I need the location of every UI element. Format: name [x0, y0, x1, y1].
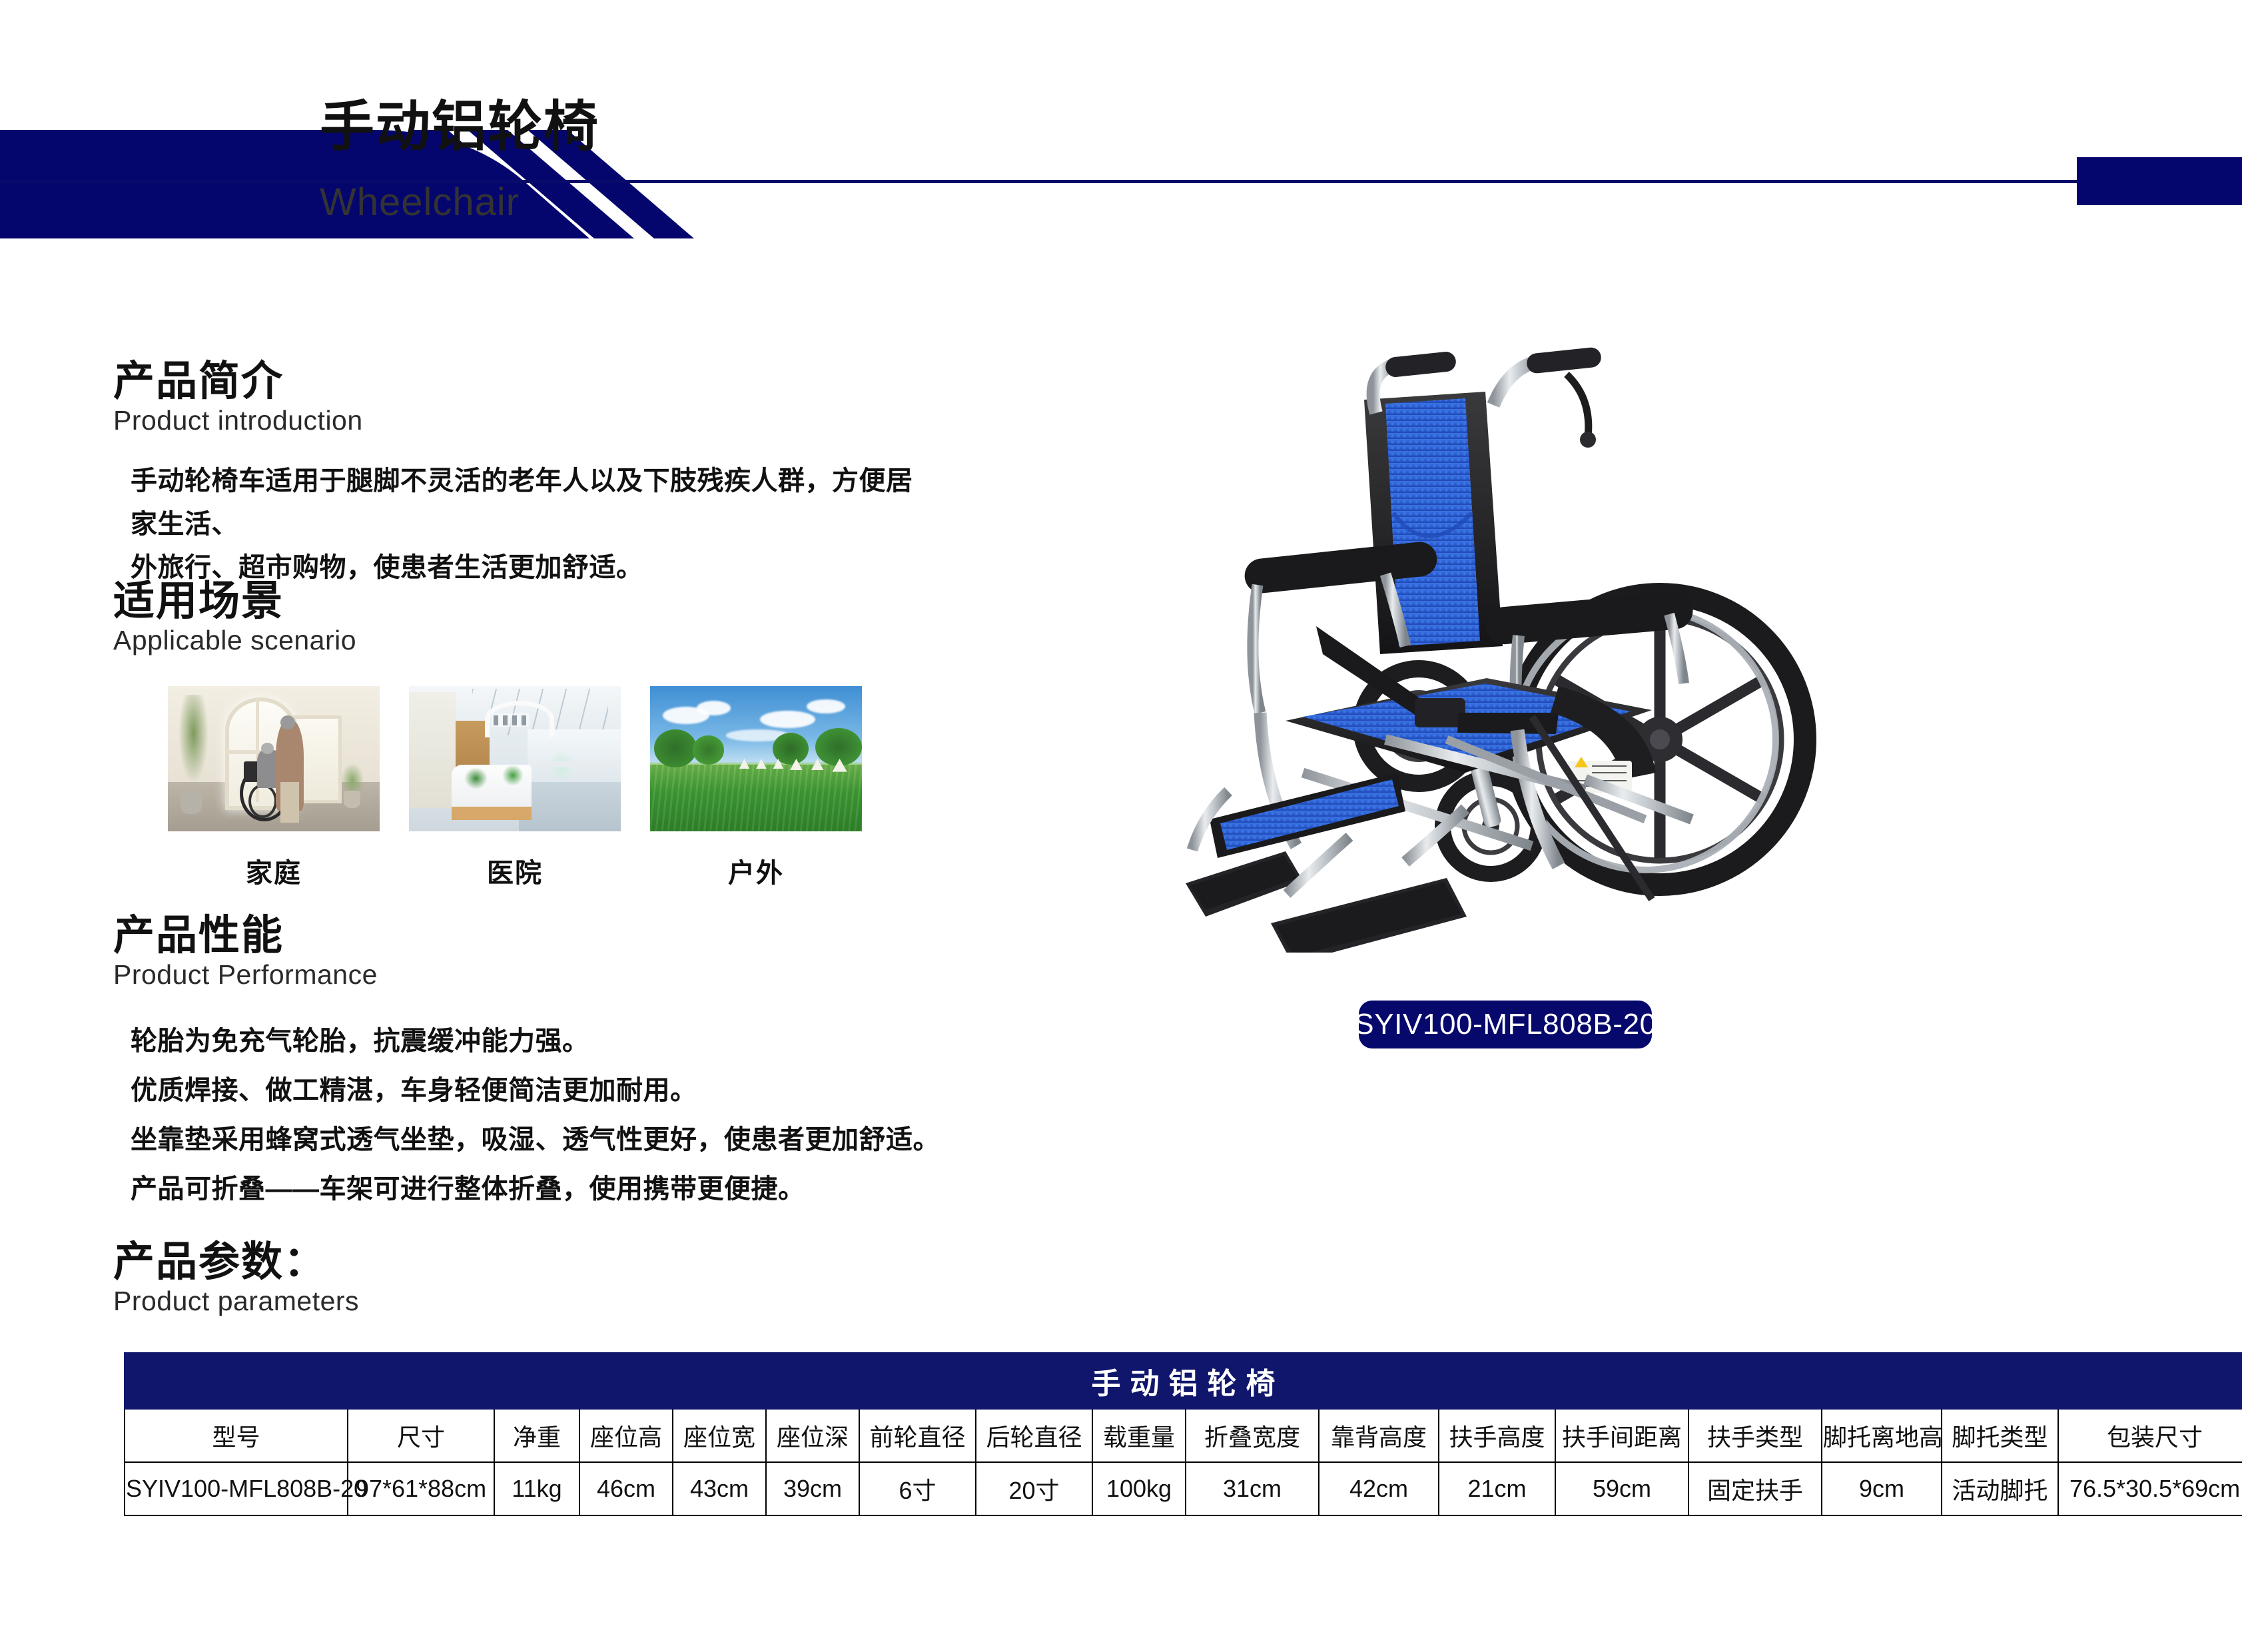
parameters-table: 手动铝轮椅 型号 尺寸 净重 座位高 座位宽 座位深 前轮直径 后轮直径 载重量…	[124, 1352, 2242, 1516]
table-cell-seat-depth: 39cm	[766, 1462, 859, 1515]
belt-buckle	[1415, 698, 1465, 727]
footplate-right	[1271, 878, 1467, 953]
brake-lever	[1567, 374, 1589, 437]
table-col-size: 尺寸	[348, 1409, 494, 1462]
table-cell-size: 97*61*88cm	[348, 1462, 494, 1515]
table-cell-footrest-ground-height: 9cm	[1822, 1462, 1942, 1515]
performance-title-en: Product Performance	[113, 957, 378, 993]
table-col-package-size: 包装尺寸	[2058, 1409, 2242, 1462]
table-col-seat-depth: 座位深	[766, 1409, 859, 1462]
table-col-load-capacity: 载重量	[1092, 1409, 1186, 1462]
scenario-caption-outdoor: 户外	[650, 851, 862, 890]
header-right-accent-block	[2077, 157, 2242, 205]
page-title-en: Wheelchair	[320, 179, 520, 227]
table-cell-load-capacity: 100kg	[1092, 1462, 1186, 1515]
parameters-title-en: Product parameters	[113, 1284, 359, 1319]
table-col-armrest-type: 扶手类型	[1688, 1409, 1822, 1462]
performance-line-1: 轮胎为免充气轮胎，抗震缓冲能力强。	[131, 1019, 589, 1058]
product-photo-wheelchair	[1186, 313, 1865, 953]
table-col-rear-wheel-dia: 后轮直径	[976, 1409, 1092, 1462]
model-badge: SYIV100-MFL808B-20	[1359, 1001, 1652, 1048]
table-col-seat-width: 座位宽	[673, 1409, 766, 1462]
scenario-image-home	[168, 686, 380, 831]
table-cell-footrest-type: 活动脚托	[1942, 1462, 2058, 1515]
push-handle-left	[1385, 351, 1457, 378]
section-heading-introduction: 产品简介 Product introduction	[113, 360, 363, 438]
push-handle-right	[1526, 346, 1603, 374]
table-cell-backrest-height: 42cm	[1319, 1462, 1439, 1515]
performance-title-cn: 产品性能	[113, 914, 378, 957]
table-cell-folded-width: 31cm	[1186, 1462, 1319, 1515]
product-spec-page: 手动铝轮椅 Wheelchair 产品简介 Product introducti…	[0, 0, 2242, 1652]
table-header-row: 型号 尺寸 净重 座位高 座位宽 座位深 前轮直径 后轮直径 载重量 折叠宽度 …	[125, 1409, 2242, 1462]
table-col-backrest-height: 靠背高度	[1319, 1409, 1439, 1462]
table-cell-netweight: 11kg	[494, 1462, 579, 1515]
table-col-folded-width: 折叠宽度	[1186, 1409, 1319, 1462]
table-cell-package-size: 76.5*30.5*69cm	[2058, 1462, 2242, 1515]
page-title-cn: 手动铝轮椅	[320, 100, 599, 155]
introduction-title-en: Product introduction	[113, 403, 363, 438]
table-cell-front-wheel-dia: 6寸	[859, 1462, 976, 1515]
introduction-line-1: 手动轮椅车适用于腿脚不灵活的老年人以及下肢残疾人群，方便居家生活、	[131, 460, 917, 546]
table-title: 手动铝轮椅	[125, 1353, 2242, 1409]
scenario-caption-home: 家庭	[168, 851, 380, 890]
performance-line-4: 产品可折叠——车架可进行整体折叠，使用携带更便捷。	[131, 1167, 805, 1206]
table-title-row: 手动铝轮椅	[125, 1353, 2242, 1409]
parameters-title-cn: 产品参数：	[113, 1240, 359, 1284]
table-cell-armrest-height: 21cm	[1439, 1462, 1555, 1515]
scenario-caption-hospital: 医院	[409, 851, 621, 890]
introduction-title-cn: 产品简介	[113, 360, 363, 403]
table-col-seat-height: 座位高	[579, 1409, 673, 1462]
footplate-left	[1186, 851, 1303, 917]
section-heading-scenario: 适用场景 Applicable scenario	[113, 580, 356, 658]
introduction-paragraph: 手动轮椅车适用于腿脚不灵活的老年人以及下肢残疾人群，方便居家生活、 外旅行、超市…	[131, 460, 917, 589]
table-col-footrest-type: 脚托类型	[1942, 1409, 2058, 1462]
table-row: SYIV100-MFL808B-20 97*61*88cm 11kg 46cm …	[125, 1462, 2242, 1515]
performance-line-2: 优质焊接、做工精湛，车身轻便简洁更加耐用。	[131, 1068, 697, 1107]
page-header: 手动铝轮椅 Wheelchair	[0, 0, 2242, 240]
table-cell-seat-height: 46cm	[579, 1462, 673, 1515]
scenario-title-cn: 适用场景	[113, 580, 356, 623]
table-col-armrest-distance: 扶手间距离	[1555, 1409, 1688, 1462]
table-cell-rear-wheel-dia: 20寸	[976, 1462, 1092, 1515]
table-cell-armrest-distance: 59cm	[1555, 1462, 1688, 1515]
scenario-image-outdoor	[650, 686, 862, 831]
table-col-armrest-height: 扶手高度	[1439, 1409, 1555, 1462]
table-cell-armrest-type: 固定扶手	[1688, 1462, 1822, 1515]
performance-line-3: 坐靠垫采用蜂窝式透气坐垫，吸湿、透气性更好，使患者更加舒适。	[131, 1118, 940, 1156]
table-cell-seat-width: 43cm	[673, 1462, 766, 1515]
section-heading-parameters: 产品参数： Product parameters	[113, 1240, 359, 1319]
scenario-image-hospital	[409, 686, 621, 831]
scenario-title-en: Applicable scenario	[113, 623, 356, 658]
table-col-netweight: 净重	[494, 1409, 579, 1462]
table-col-front-wheel-dia: 前轮直径	[859, 1409, 976, 1462]
table-col-model: 型号	[125, 1409, 348, 1462]
table-cell-model: SYIV100-MFL808B-20	[125, 1462, 348, 1515]
section-heading-performance: 产品性能 Product Performance	[113, 914, 378, 993]
table-col-footrest-ground-height: 脚托离地高	[1822, 1409, 1942, 1462]
